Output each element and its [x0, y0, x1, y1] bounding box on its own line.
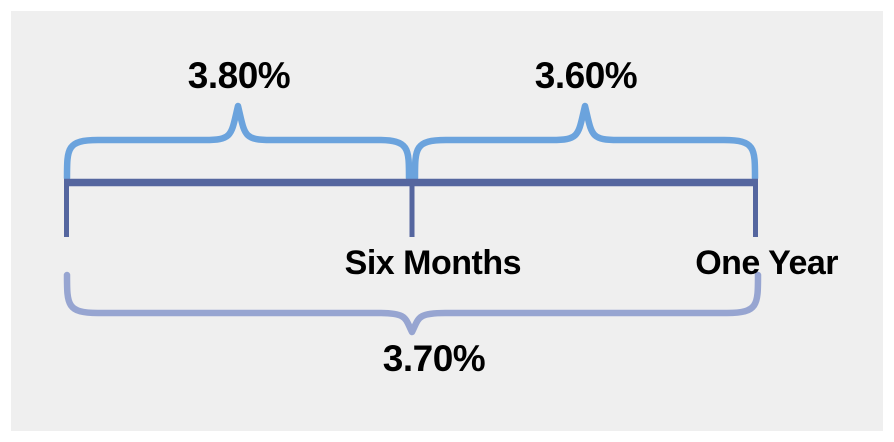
first-period-rate-label: 3.80% — [188, 57, 290, 94]
axis-label-six-months: Six Months — [345, 246, 521, 280]
upper-brace-second-period — [415, 106, 755, 178]
axis-label-one-year: One Year — [695, 246, 838, 280]
second-period-rate-label: 3.60% — [535, 57, 637, 94]
lower-brace-full-term — [67, 275, 758, 332]
upper-brace-first-period — [67, 106, 409, 178]
rate-bracket-figure: 3.80% 3.60% 3.70% Six Months One Year — [0, 0, 894, 442]
total-period-rate-label: 3.70% — [383, 340, 485, 377]
